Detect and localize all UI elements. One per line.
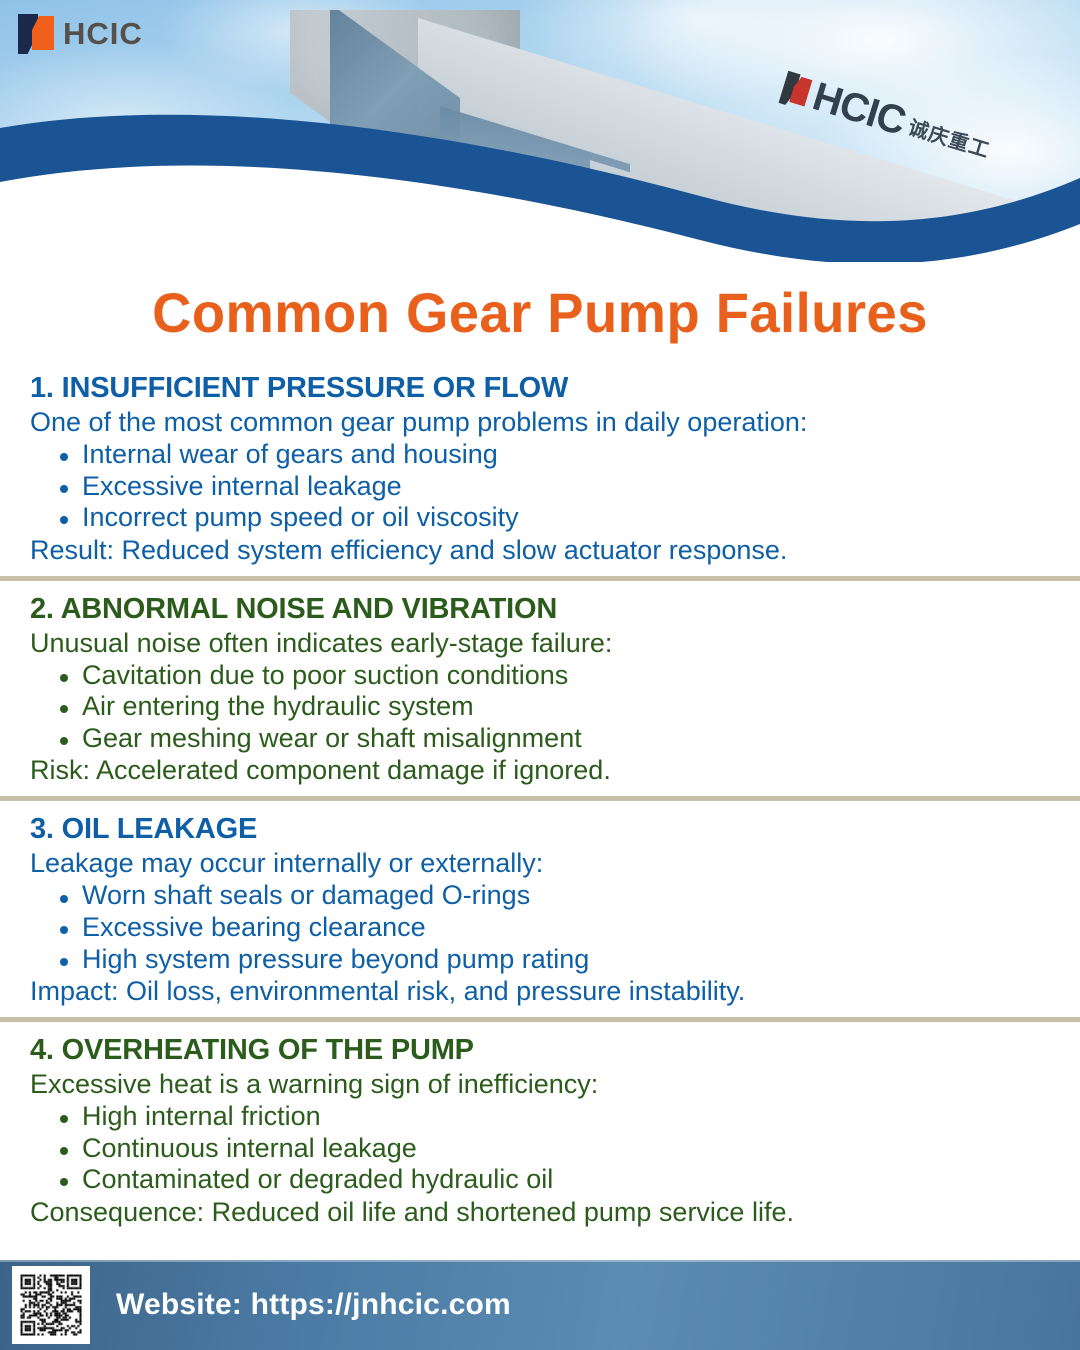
list-item: High internal friction [58, 1101, 1080, 1133]
header-hero: HCIC 诚庆重工 HCIC [0, 0, 1080, 262]
section-bullet-list: High internal friction Continuous intern… [0, 1101, 1080, 1196]
section-heading: 4. OVERHEATING OF THE PUMP [30, 1034, 1080, 1067]
footer-bar: Website: https://jnhcic.com [0, 1260, 1080, 1350]
section-lead: Excessive heat is a warning sign of inef… [30, 1069, 1080, 1100]
brand-logo-text: HCIC [63, 16, 143, 52]
section-abnormal-noise-and-vibration: 2. ABNORMAL NOISE AND VIBRATION Unusual … [0, 593, 1080, 787]
section-divider [0, 1017, 1080, 1022]
list-item: Cavitation due to poor suction condition… [58, 660, 1080, 692]
section-footnote: Impact: Oil loss, environmental risk, an… [30, 976, 1080, 1007]
section-footnote: Risk: Accelerated component damage if ig… [30, 755, 1080, 786]
section-bullet-list: Worn shaft seals or damaged O-rings Exce… [0, 880, 1080, 975]
section-heading: 3. OIL LEAKAGE [30, 813, 1080, 846]
list-item: Incorrect pump speed or oil viscosity [58, 502, 1080, 534]
list-item: Gear meshing wear or shaft misalignment [58, 723, 1080, 755]
list-item: Air entering the hydraulic system [58, 691, 1080, 723]
failure-sections: 1. INSUFFICIENT PRESSURE OR FLOW One of … [0, 372, 1080, 1228]
list-item: High system pressure beyond pump rating [58, 944, 1080, 976]
section-overheating-of-the-pump: 4. OVERHEATING OF THE PUMP Excessive hea… [0, 1034, 1080, 1228]
list-item: Excessive internal leakage [58, 471, 1080, 503]
section-bullet-list: Internal wear of gears and housing Exces… [0, 439, 1080, 534]
section-lead: One of the most common gear pump problem… [30, 407, 1080, 438]
list-item: Internal wear of gears and housing [58, 439, 1080, 471]
section-lead: Leakage may occur internally or external… [30, 848, 1080, 879]
building-logo-text: HCIC [807, 74, 910, 144]
section-footnote: Result: Reduced system efficiency and sl… [30, 535, 1080, 566]
section-bullet-list: Cavitation due to poor suction condition… [0, 660, 1080, 755]
building-logo-icon [778, 70, 813, 110]
building-logo-chinese: 诚庆重工 [905, 111, 994, 163]
section-divider [0, 796, 1080, 801]
section-oil-leakage: 3. OIL LEAKAGE Leakage may occur interna… [0, 813, 1080, 1007]
list-item: Contaminated or degraded hydraulic oil [58, 1164, 1080, 1196]
section-heading: 2. ABNORMAL NOISE AND VIBRATION [30, 593, 1080, 626]
list-item: Continuous internal leakage [58, 1133, 1080, 1165]
website-label[interactable]: Website: https://jnhcic.com [116, 1288, 511, 1322]
factory-building-photo: HCIC 诚庆重工 [0, 0, 1080, 262]
page-title: Common Gear Pump Failures [16, 280, 1064, 345]
qr-code-icon[interactable] [12, 1266, 90, 1344]
list-item: Excessive bearing clearance [58, 912, 1080, 944]
section-lead: Unusual noise often indicates early-stag… [30, 628, 1080, 659]
section-divider [0, 576, 1080, 581]
section-insufficient-pressure-or-flow: 1. INSUFFICIENT PRESSURE OR FLOW One of … [0, 372, 1080, 566]
brand-logo[interactable]: HCIC [18, 14, 143, 54]
section-heading: 1. INSUFFICIENT PRESSURE OR FLOW [30, 372, 1080, 405]
hcic-logo-icon [18, 14, 54, 54]
list-item: Worn shaft seals or damaged O-rings [58, 880, 1080, 912]
section-footnote: Consequence: Reduced oil life and shorte… [30, 1197, 1080, 1228]
